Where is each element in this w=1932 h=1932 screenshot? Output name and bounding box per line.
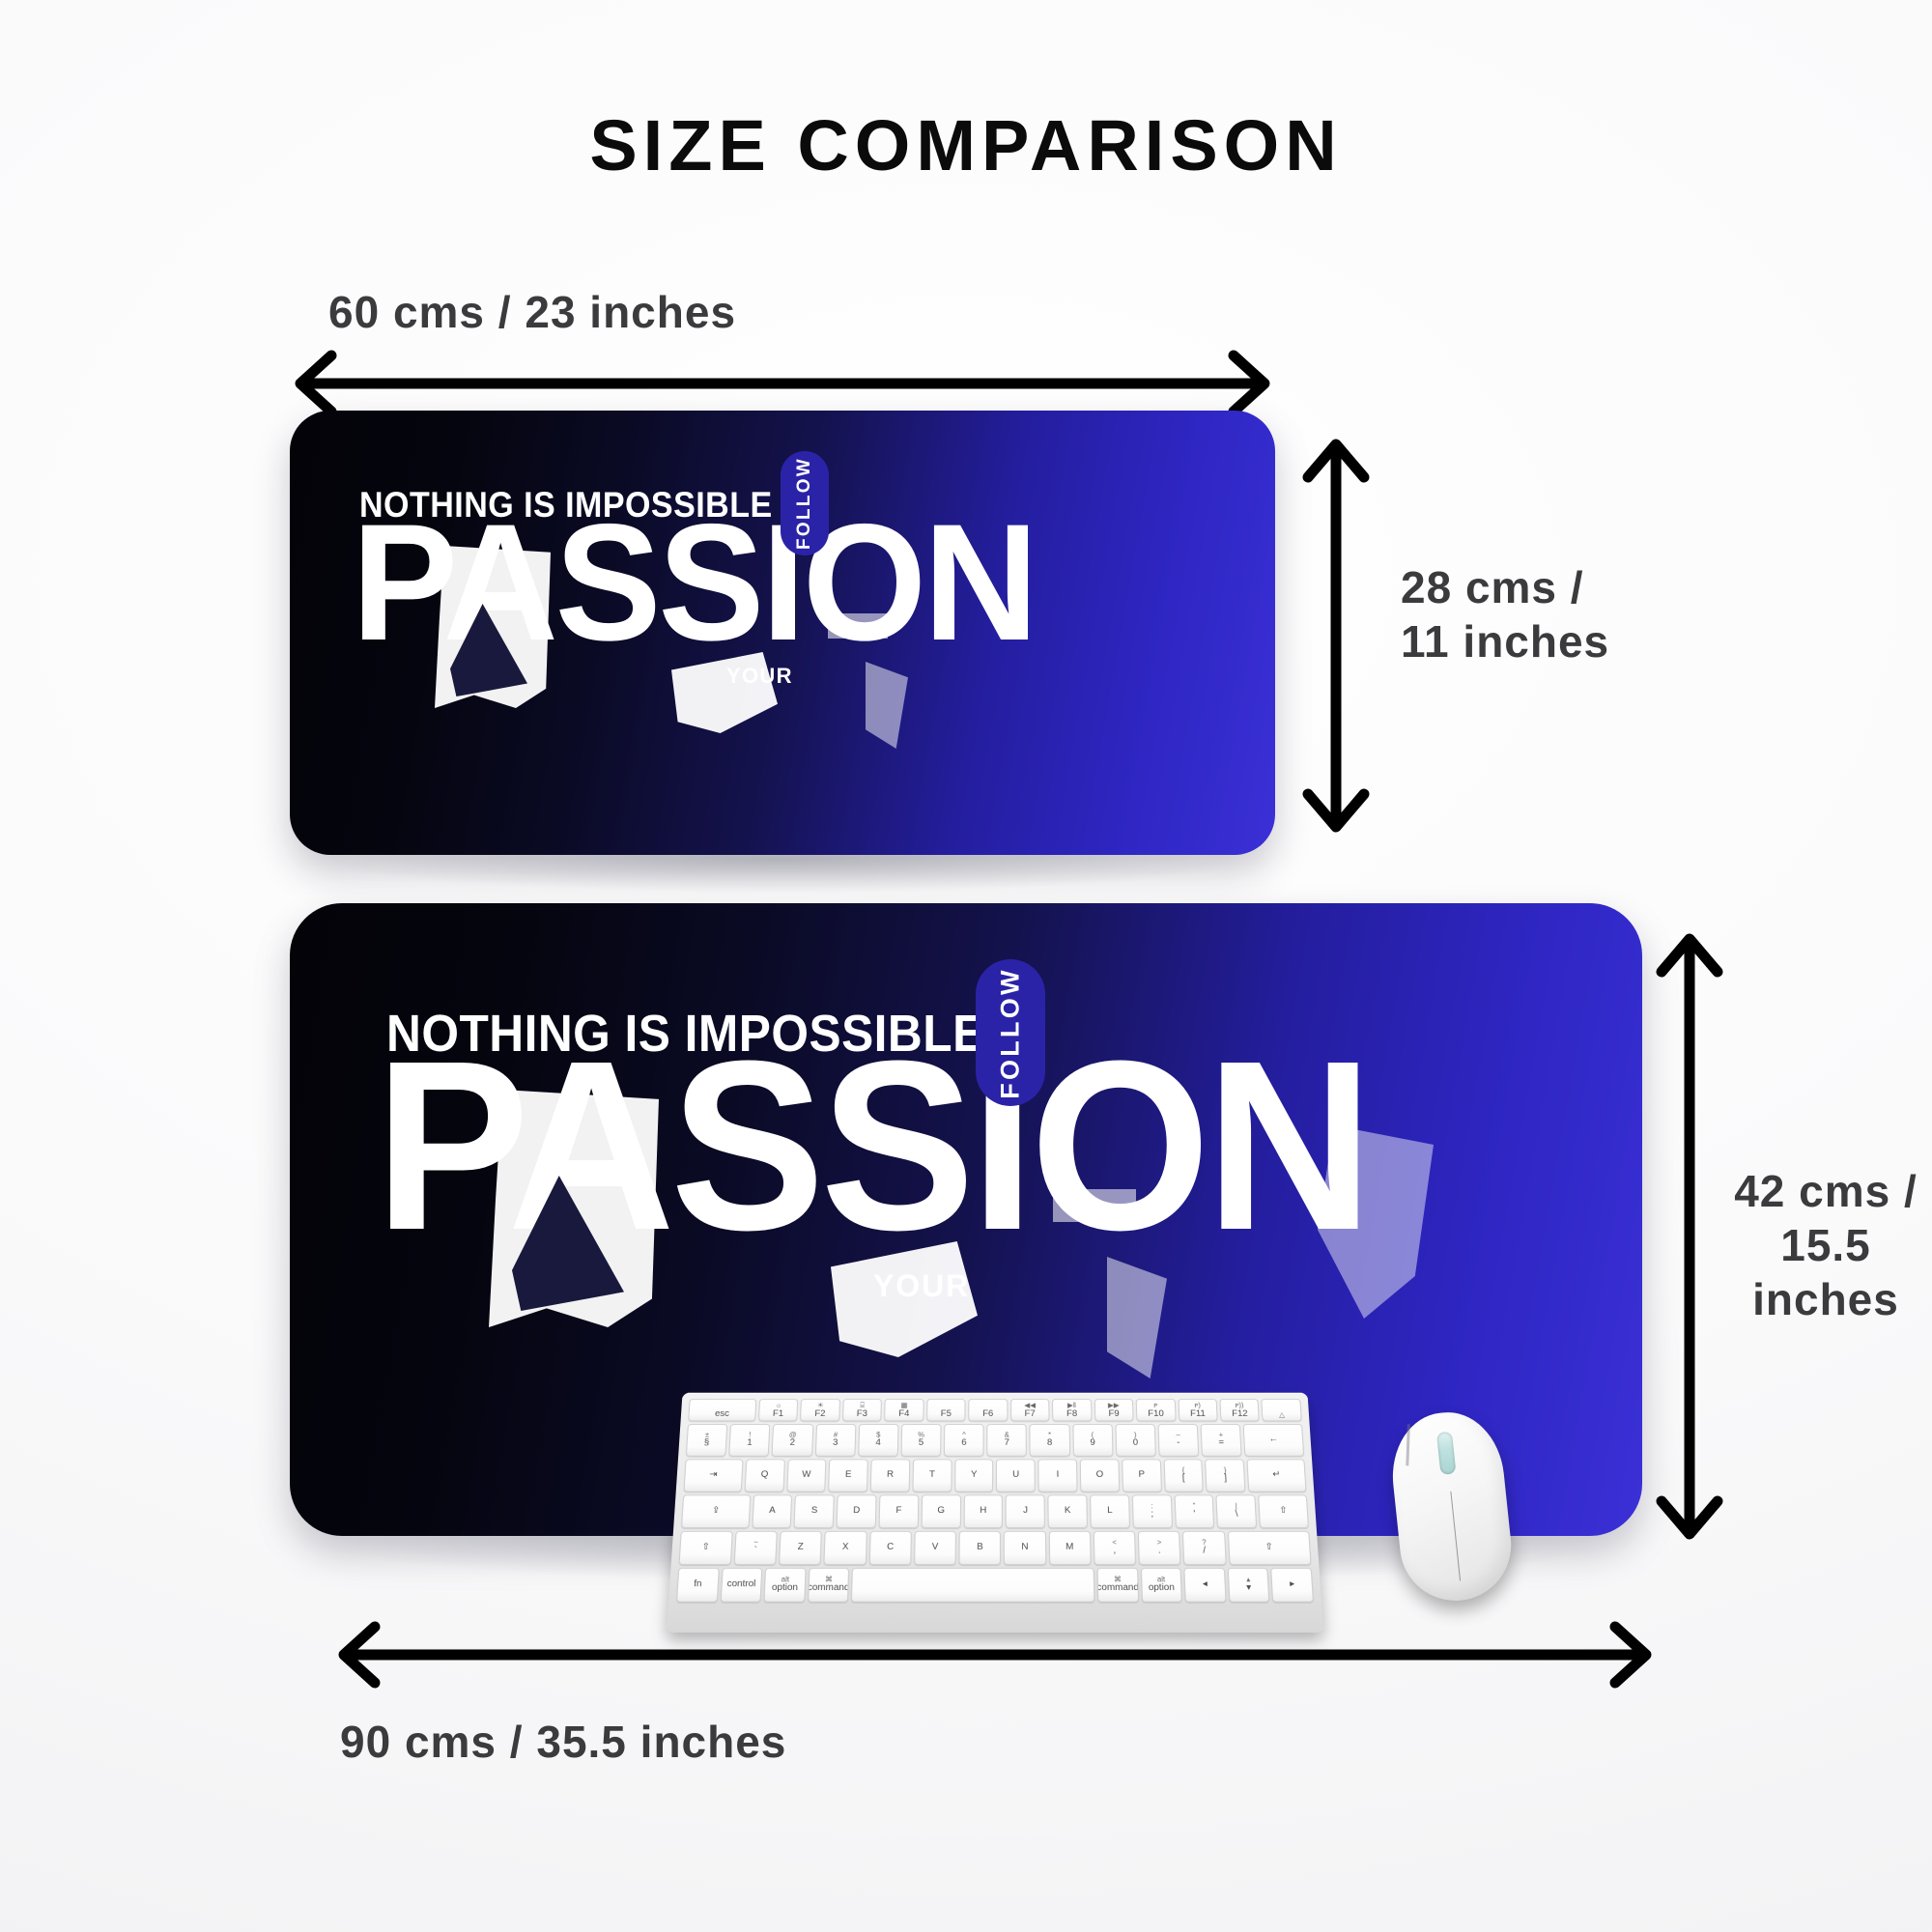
key-legend: ▸ xyxy=(1290,1580,1295,1590)
key-legend: 4 xyxy=(875,1439,881,1449)
key-legend: O xyxy=(1096,1471,1104,1481)
mouse-left-button-gap xyxy=(1406,1424,1410,1465)
key-upper-legend: △ xyxy=(1279,1411,1285,1419)
key-legend: command xyxy=(808,1584,849,1594)
key-legend: Z xyxy=(797,1543,803,1552)
key-[interactable]: ?/ xyxy=(1182,1531,1226,1565)
key-legend: 8 xyxy=(1047,1439,1052,1449)
key-i[interactable]: I xyxy=(1038,1459,1078,1492)
key-g[interactable]: G xyxy=(921,1494,960,1528)
key-legend: ⇧ xyxy=(1264,1543,1273,1552)
key-f9[interactable]: ▶▶F9 xyxy=(1094,1399,1133,1421)
key-m[interactable]: M xyxy=(1048,1531,1091,1565)
key-legend: P xyxy=(1138,1471,1145,1481)
key-[interactable]: {[ xyxy=(1163,1459,1204,1492)
key-legend: U xyxy=(1012,1471,1019,1481)
small-pad-follow-label: FOLLOW xyxy=(794,457,815,550)
large-pad-your-label: YOUR xyxy=(873,1268,970,1304)
key-legend: [ xyxy=(1182,1474,1185,1484)
key-8[interactable]: *8 xyxy=(1030,1424,1070,1457)
key-command[interactable]: ⌘command xyxy=(808,1568,849,1603)
key-[interactable]: += xyxy=(1201,1424,1242,1457)
key-y[interactable]: Y xyxy=(954,1459,994,1492)
key-a[interactable]: A xyxy=(752,1494,792,1528)
key-f10[interactable]: ᴘF10 xyxy=(1136,1399,1176,1421)
key-x[interactable]: X xyxy=(824,1531,867,1565)
key-legend: ↵ xyxy=(1272,1471,1281,1481)
keyboard-row: esc☼F1☀F2⌸F3▦F4F5F6◀◀F7▶‖F8▶▶F9ᴘF10ᴘ)F11… xyxy=(688,1399,1302,1421)
key-legend: X xyxy=(842,1543,849,1552)
key-legend: ⇥ xyxy=(709,1471,718,1481)
large-pad-grunge-6 xyxy=(1318,1125,1434,1319)
keyboard-row: ⇪ASDFGHJKL:;"'|\⇧ xyxy=(681,1494,1309,1528)
key-legend: command xyxy=(1097,1584,1139,1594)
key-[interactable]: ⇪ xyxy=(681,1494,751,1528)
small-pad-width-arrow xyxy=(275,350,1290,417)
key-[interactable]: "' xyxy=(1174,1494,1214,1528)
key-legend: ⇧ xyxy=(1279,1507,1288,1517)
mouse-scroll-wheel[interactable] xyxy=(1435,1431,1456,1474)
small-pad-grunge-4 xyxy=(828,613,888,639)
key-legend: Y xyxy=(971,1471,978,1481)
key-legend: ◂ xyxy=(1203,1580,1207,1590)
key-[interactable]: –- xyxy=(1157,1424,1199,1457)
key-legend: 1 xyxy=(747,1439,753,1449)
key-f8[interactable]: ▶‖F8 xyxy=(1052,1399,1092,1421)
key-legend: fn xyxy=(694,1580,702,1590)
keyboard-row: fncontrolaltoption⌘command⌘commandaltopt… xyxy=(676,1568,1314,1603)
key-[interactable]: ◂ xyxy=(1184,1568,1227,1603)
large-pad-width-label: 90 cms / 35.5 inches xyxy=(340,1715,786,1769)
key-[interactable]: ▴▾ xyxy=(1228,1568,1270,1603)
key-s[interactable]: S xyxy=(794,1494,835,1528)
key-z[interactable]: Z xyxy=(779,1531,822,1565)
key-legend: F xyxy=(895,1507,901,1517)
key-legend: L xyxy=(1107,1507,1113,1517)
key-5[interactable]: %5 xyxy=(900,1424,941,1457)
key-legend: F2 xyxy=(814,1409,826,1418)
key-legend: esc xyxy=(715,1409,729,1418)
key-[interactable]: |\ xyxy=(1216,1494,1258,1528)
key-legend: F12 xyxy=(1232,1409,1248,1418)
large-pad-follow-label: FOLLOW xyxy=(996,967,1026,1098)
key-c[interactable]: C xyxy=(868,1531,911,1565)
key-legend: ; xyxy=(1151,1511,1153,1520)
key-h[interactable]: H xyxy=(963,1494,1003,1528)
key-f7[interactable]: ◀◀F7 xyxy=(1010,1399,1050,1421)
key-legend: F4 xyxy=(898,1409,909,1418)
key-legend: I xyxy=(1057,1471,1060,1481)
key-v[interactable]: V xyxy=(914,1531,956,1565)
key-legend: 5 xyxy=(919,1439,923,1449)
key-1[interactable]: !1 xyxy=(728,1424,770,1457)
key-legend: ▾ xyxy=(1246,1584,1252,1594)
key-f[interactable]: F xyxy=(879,1494,919,1528)
key-legend: \ xyxy=(1236,1511,1238,1520)
key-legend: F11 xyxy=(1190,1409,1206,1418)
key-option[interactable]: altoption xyxy=(1141,1568,1182,1603)
key-[interactable]: >. xyxy=(1138,1531,1181,1565)
keyboard-row: ⇥QWERTYUIOP{[}]↵ xyxy=(683,1459,1306,1492)
key-[interactable]: ⇧ xyxy=(1228,1531,1312,1565)
key-legend: F5 xyxy=(941,1409,952,1418)
key-l[interactable]: L xyxy=(1090,1494,1130,1528)
key-9[interactable]: (9 xyxy=(1072,1424,1113,1457)
large-pad-grunge-4 xyxy=(1053,1189,1136,1222)
small-mousepad: NOTHING IS IMPOSSIBLE PASSION FOLLOW YOU… xyxy=(290,411,1275,855)
key-4[interactable]: $4 xyxy=(858,1424,898,1457)
key-control[interactable]: control xyxy=(720,1568,762,1603)
key-o[interactable]: O xyxy=(1080,1459,1120,1492)
key-legend: T xyxy=(929,1471,935,1481)
key-legend: control xyxy=(726,1580,755,1590)
key-legend: ⇧ xyxy=(701,1543,710,1552)
key-legend: B xyxy=(977,1543,983,1552)
key-t[interactable]: T xyxy=(912,1459,952,1492)
key-p[interactable]: P xyxy=(1122,1459,1162,1492)
key-legend: W xyxy=(802,1471,811,1481)
key-legend: F8 xyxy=(1066,1409,1077,1418)
key-f2[interactable]: ☀F2 xyxy=(800,1399,839,1421)
key-[interactable]: ~` xyxy=(734,1531,778,1565)
key-legend: A xyxy=(769,1507,776,1517)
small-pad-height-label: 28 cms / 11 inches xyxy=(1401,560,1609,668)
key-b[interactable]: B xyxy=(959,1531,1002,1565)
key-7[interactable]: &7 xyxy=(987,1424,1028,1457)
key-legend: R xyxy=(887,1471,894,1481)
key-fn[interactable]: fn xyxy=(676,1568,719,1603)
key-command[interactable]: ⌘command xyxy=(1097,1568,1139,1603)
small-pad-height-arrow xyxy=(1302,423,1370,848)
key-legend: F1 xyxy=(773,1409,784,1418)
key-[interactable]: :; xyxy=(1132,1494,1173,1528)
keyboard-row: ⇧~`ZXCVBNM<,>.?/⇧ xyxy=(679,1531,1312,1565)
key-[interactable]: ⇧ xyxy=(679,1531,733,1565)
key-[interactable]: <, xyxy=(1094,1531,1136,1565)
key-legend: E xyxy=(845,1471,852,1481)
keyboard-row: ±§!1@2#3$4%5^6&7*8(9)0–-+=← xyxy=(686,1424,1304,1457)
key-legend: 6 xyxy=(961,1439,966,1449)
key-legend: 3 xyxy=(833,1439,838,1449)
key-legend: N xyxy=(1021,1543,1028,1552)
key-[interactable]: }] xyxy=(1206,1459,1246,1492)
key-0[interactable]: )0 xyxy=(1115,1424,1155,1457)
key-legend: ⇪ xyxy=(712,1507,721,1517)
key-[interactable]: ±§ xyxy=(686,1424,728,1457)
large-pad-width-arrow xyxy=(319,1621,1671,1689)
key-legend: 7 xyxy=(1005,1439,1009,1449)
key-j[interactable]: J xyxy=(1006,1494,1045,1528)
key-[interactable]: ↵ xyxy=(1247,1459,1307,1492)
keyboard[interactable]: esc☼F1☀F2⌸F3▦F4F5F6◀◀F7▶‖F8▶▶F9ᴘF10ᴘ)F11… xyxy=(667,1393,1323,1633)
key-f3[interactable]: ⌸F3 xyxy=(842,1399,882,1421)
key-f6[interactable]: F6 xyxy=(968,1399,1008,1421)
large-pad-height-arrow xyxy=(1656,918,1723,1555)
key-w[interactable]: W xyxy=(786,1459,827,1492)
mouse-button-split xyxy=(1450,1492,1461,1581)
key-n[interactable]: N xyxy=(1004,1531,1046,1565)
small-pad-width-label: 60 cms / 23 inches xyxy=(328,285,736,339)
page-title: SIZE COMPARISON xyxy=(0,104,1932,186)
key-legend: K xyxy=(1065,1507,1071,1517)
key-r[interactable]: R xyxy=(870,1459,910,1492)
key-legend: 2 xyxy=(789,1439,795,1449)
key-legend: ] xyxy=(1224,1474,1227,1484)
key-f11[interactable]: ᴘ)F11 xyxy=(1178,1399,1218,1421)
key-legend: 0 xyxy=(1133,1439,1139,1449)
key-legend: ' xyxy=(1193,1511,1195,1520)
key-[interactable]: △ xyxy=(1262,1399,1302,1421)
key-f1[interactable]: ☼F1 xyxy=(758,1399,799,1421)
key-option[interactable]: altoption xyxy=(764,1568,807,1603)
key-legend: option xyxy=(772,1584,798,1594)
key-legend: option xyxy=(1149,1584,1175,1594)
key-legend: H xyxy=(980,1507,986,1517)
large-pad-follow-badge: FOLLOW xyxy=(976,959,1045,1106)
key-f4[interactable]: ▦F4 xyxy=(884,1399,923,1421)
key-esc[interactable]: esc xyxy=(688,1399,756,1421)
key-legend: F9 xyxy=(1108,1409,1119,1418)
key-[interactable]: ⇧ xyxy=(1258,1494,1309,1528)
key-legend: ← xyxy=(1268,1435,1278,1445)
key-legend: V xyxy=(932,1543,939,1552)
key-d[interactable]: D xyxy=(837,1494,877,1528)
key-legend: Q xyxy=(760,1471,768,1481)
key-3[interactable]: #3 xyxy=(814,1424,856,1457)
key-legend: C xyxy=(887,1543,894,1552)
key-[interactable]: ▸ xyxy=(1271,1568,1314,1603)
key-e[interactable]: E xyxy=(828,1459,868,1492)
key-legend: F7 xyxy=(1025,1409,1036,1418)
key-legend: D xyxy=(853,1507,860,1517)
key-legend: ` xyxy=(753,1547,757,1556)
key-legend: § xyxy=(703,1439,709,1449)
key-k[interactable]: K xyxy=(1048,1494,1088,1528)
key-u[interactable]: U xyxy=(996,1459,1036,1492)
key-legend: G xyxy=(937,1507,945,1517)
key-legend: F10 xyxy=(1148,1409,1164,1418)
key-legend: M xyxy=(1065,1543,1073,1552)
key-legend: = xyxy=(1218,1439,1224,1449)
key-legend: S xyxy=(811,1507,818,1517)
key-legend: , xyxy=(1113,1547,1116,1556)
key-legend: 9 xyxy=(1090,1439,1095,1449)
key-6[interactable]: ^6 xyxy=(944,1424,984,1457)
large-pad-height-label: 42 cms / 15.5 inches xyxy=(1729,1164,1922,1326)
key-legend: / xyxy=(1203,1547,1206,1556)
small-pad-follow-badge: FOLLOW xyxy=(781,451,829,555)
key-[interactable]: ⇥ xyxy=(683,1459,743,1492)
key-legend: . xyxy=(1158,1547,1161,1556)
key-legend: F6 xyxy=(982,1409,993,1418)
key-2[interactable]: @2 xyxy=(772,1424,813,1457)
key-blank[interactable] xyxy=(851,1568,1094,1603)
key-legend: J xyxy=(1023,1507,1028,1517)
key-legend: F3 xyxy=(857,1409,867,1418)
key-[interactable]: ← xyxy=(1243,1424,1304,1457)
key-q[interactable]: Q xyxy=(744,1459,784,1492)
key-f5[interactable]: F5 xyxy=(926,1399,966,1421)
key-legend: - xyxy=(1177,1439,1180,1449)
small-pad-your-label: YOUR xyxy=(726,664,793,689)
key-f12[interactable]: ᴘ))F12 xyxy=(1219,1399,1260,1421)
